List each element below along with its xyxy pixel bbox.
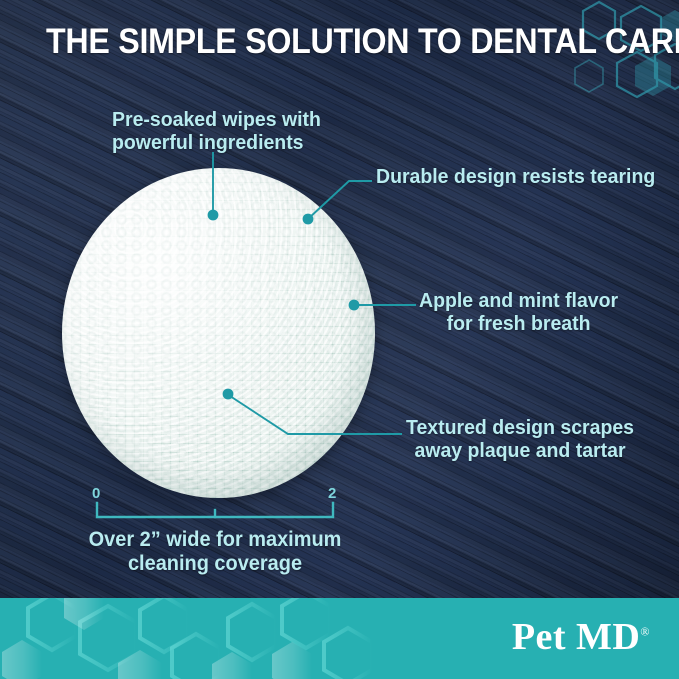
callout-overlay: [0, 0, 679, 679]
callout-dot-pre-soaked: [208, 210, 219, 221]
callout-dot-durable: [303, 214, 314, 225]
measurement-ruler: [97, 503, 333, 517]
leader-line-textured: [230, 396, 402, 434]
callout-line-1: Textured design scrapes: [406, 416, 634, 439]
callout-line-2: powerful ingredients: [112, 131, 321, 154]
leader-line-durable: [309, 181, 372, 218]
footer-band: Pet MD®: [0, 598, 679, 679]
brand-name: Pet MD: [512, 616, 641, 658]
callout-line-1: Apple and mint flavor: [419, 289, 618, 312]
measurement-caption-line-2: cleaning coverage: [63, 552, 367, 576]
callout-label-flavor: Apple and mint flavor for fresh breath: [419, 289, 618, 335]
measurement-caption-line-1: Over 2” wide for maximum: [63, 528, 367, 552]
callout-dot-textured: [223, 389, 234, 400]
callout-label-textured: Textured design scrapes away plaque and …: [406, 416, 634, 462]
callout-line-1: Pre-soaked wipes with: [112, 108, 321, 131]
registered-trademark-icon: ®: [640, 624, 650, 638]
footer-hexagon-pattern-icon: [0, 598, 420, 679]
callout-line-2: for fresh breath: [419, 312, 618, 335]
ruler-tick-label-start: 0: [92, 485, 100, 502]
callout-line-2: away plaque and tartar: [406, 439, 634, 462]
callout-line-1: Durable design resists tearing: [376, 165, 655, 188]
ruler-tick-label-end: 2: [328, 485, 336, 502]
callout-dot-flavor: [349, 300, 360, 311]
callout-label-durable: Durable design resists tearing: [376, 165, 655, 188]
measurement-caption: Over 2” wide for maximum cleaning covera…: [63, 528, 367, 576]
brand-logo: Pet MD®: [512, 612, 650, 662]
infographic-canvas: THE SIMPLE SOLUTION TO DENTAL CARE: [0, 0, 679, 679]
callout-label-pre-soaked: Pre-soaked wipes with powerful ingredien…: [112, 108, 321, 154]
